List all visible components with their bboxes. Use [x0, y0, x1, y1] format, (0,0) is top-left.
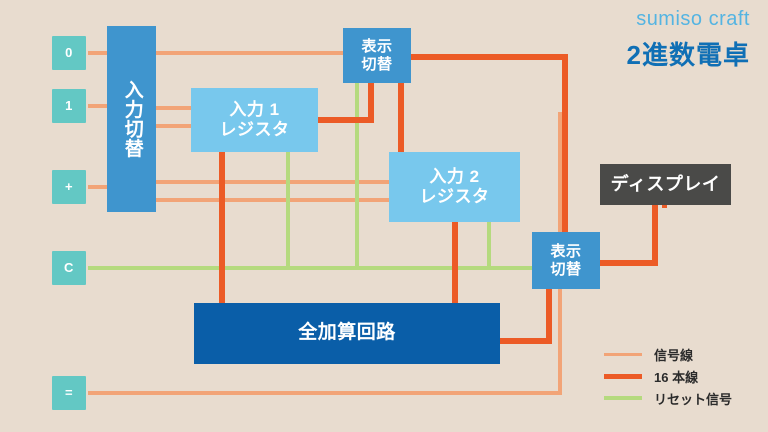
- legend-swatch-bus-icon: [604, 374, 642, 379]
- key-1-label: 1: [65, 98, 73, 113]
- wire-bus-adder-out-h: [500, 338, 552, 344]
- wire-bus-switch-top-right-h: [404, 54, 568, 60]
- wire-signal-switch-to-register1-a: [156, 106, 193, 110]
- wire-signal-switch-to-register1-b: [156, 124, 193, 128]
- wire-bus-switch-top-to-register2: [398, 83, 404, 153]
- key-plus[interactable]: +: [52, 170, 86, 204]
- legend-swatch-signal-icon: [604, 353, 642, 356]
- wire-reset-branch-register2: [487, 222, 491, 268]
- wire-bus-register1-to-switch-v: [368, 83, 374, 123]
- block-display-switch-bottom[interactable]: 表示 切替: [532, 232, 600, 289]
- register-1-label-line1: 入力 1: [229, 100, 279, 120]
- legend-label-reset: リセット信号: [654, 389, 732, 408]
- display-switch-top-label: 表示 切替: [361, 38, 392, 73]
- block-register-1[interactable]: 入力 1 レジスタ: [191, 88, 318, 152]
- key-equals[interactable]: =: [52, 376, 86, 410]
- legend-label-signal: 信号線: [654, 345, 693, 364]
- block-input-switch[interactable]: 入力切替: [107, 26, 156, 212]
- key-1[interactable]: 1: [52, 89, 86, 123]
- full-adder-label: 全加算回路: [298, 322, 396, 344]
- key-clear[interactable]: C: [52, 251, 86, 285]
- legend-item-reset: リセット信号: [604, 387, 732, 409]
- block-full-adder[interactable]: 全加算回路: [194, 303, 500, 364]
- wire-signal-equals-horizontal: [88, 391, 562, 395]
- brand-top-text: sumiso craft: [627, 8, 750, 31]
- display-switch-bottom-label: 表示 切替: [550, 243, 581, 278]
- display-label: ディスプレイ: [611, 174, 721, 195]
- register-2-label-line1: 入力 2: [429, 167, 479, 187]
- wire-reset-branch-up-register1: [286, 152, 290, 268]
- branding: sumiso craft 2進数電卓: [627, 8, 750, 72]
- wire-signal-switch-to-display-switch-top: [156, 51, 346, 55]
- legend-item-bus: 16 本線: [604, 365, 732, 387]
- input-switch-label: 入力切替: [120, 80, 142, 158]
- block-display[interactable]: ディスプレイ: [600, 164, 731, 205]
- legend: 信号線 16 本線 リセット信号: [604, 343, 732, 409]
- key-0-label: 0: [65, 45, 73, 60]
- wire-bus-register1-to-switch-h: [316, 117, 374, 123]
- diagram-canvas: 0 1 + C = 入力切替 表示 切替 入力 1 レジスタ 入力 2 レジスタ…: [0, 0, 768, 432]
- key-0[interactable]: 0: [52, 36, 86, 70]
- brand-main-title: 2進数電卓: [627, 35, 750, 72]
- legend-label-bus: 16 本線: [654, 367, 698, 386]
- wire-bus-switch-bottom-to-display-h: [600, 260, 658, 266]
- key-equals-label: =: [65, 385, 73, 400]
- wire-bus-register2-to-adder: [452, 222, 458, 304]
- block-display-switch-top[interactable]: 表示 切替: [343, 28, 411, 83]
- wire-reset-branch-up-display-switch-top: [355, 83, 359, 268]
- key-plus-label: +: [65, 179, 73, 194]
- legend-item-signal: 信号線: [604, 343, 732, 365]
- register-1-label-line2: レジスタ: [220, 120, 290, 140]
- wire-bus-adder-out-v: [546, 284, 552, 344]
- wire-bus-switch-top-right-v: [562, 54, 568, 234]
- key-clear-label: C: [64, 260, 74, 275]
- legend-swatch-reset-icon: [604, 396, 642, 400]
- block-register-2[interactable]: 入力 2 レジスタ: [389, 152, 520, 222]
- wire-bus-register1-to-adder: [219, 152, 225, 304]
- register-2-label-line2: レジスタ: [420, 187, 490, 207]
- wire-bus-switch-bottom-to-display-v: [652, 204, 658, 266]
- wire-reset-keyc-horizontal: [88, 266, 540, 270]
